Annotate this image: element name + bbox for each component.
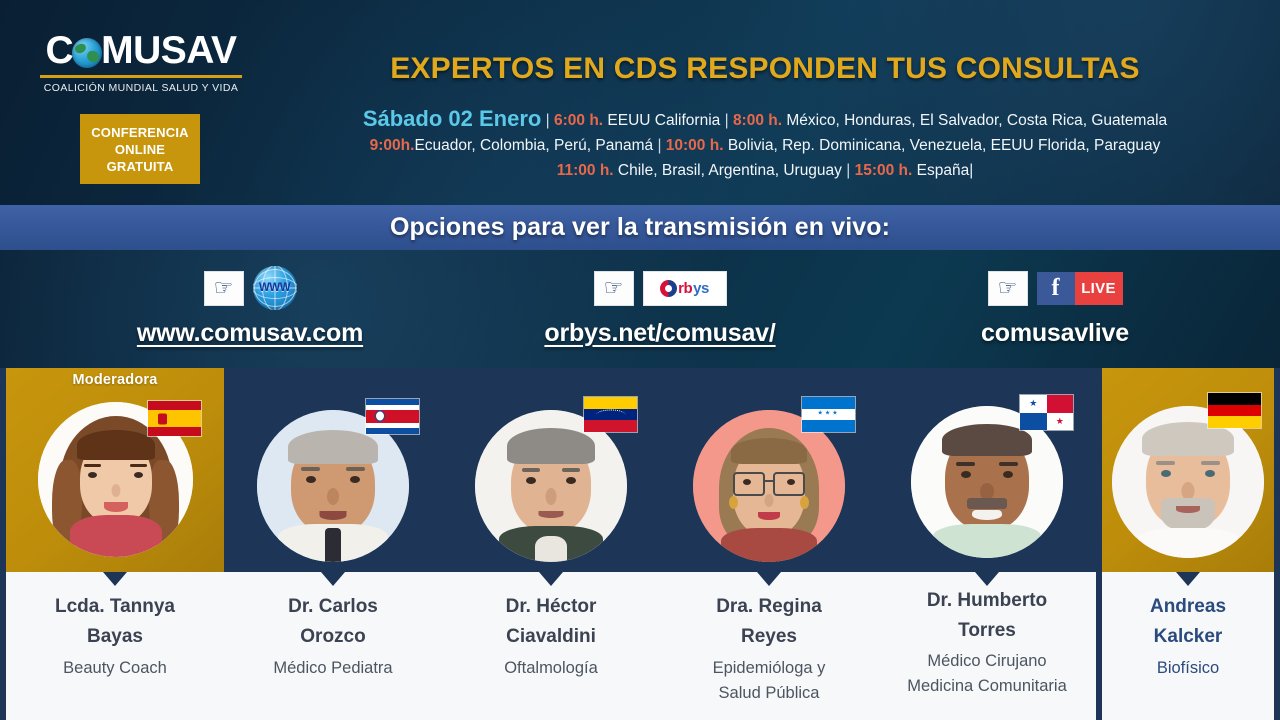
speaker-name-line-1: Lcda. Tannya — [6, 592, 224, 622]
nose — [765, 494, 774, 507]
pointer-arrow — [103, 572, 127, 586]
orbys-o-mark — [660, 280, 677, 297]
www-globe-icon: WWW — [253, 266, 297, 310]
glasses-bridge — [764, 480, 774, 482]
schedule-time: 8:00 h. — [733, 112, 782, 129]
speaker-name-line-2: Reyes — [660, 622, 878, 652]
orbys-logo-icon: rb ys — [643, 271, 727, 306]
header-right-column: EXPERTOS EN CDS RESPONDEN TUS CONSULTAS … — [250, 0, 1280, 205]
link-label-website[interactable]: www.comusav.com — [70, 319, 430, 348]
collar — [535, 536, 567, 562]
logo-wordmark: CMUSAV — [36, 30, 246, 72]
panama-flag: ★ ★ — [1019, 394, 1074, 431]
link-label-orbys[interactable]: orbys.net/comusav/ — [460, 319, 860, 348]
eye-right — [134, 472, 143, 478]
speaker-photo-area: ★★★ — [660, 368, 878, 572]
clothing — [70, 515, 162, 557]
pointer-arrow — [539, 572, 563, 586]
schedule-places: Chile, Brasil, Argentina, Uruguay — [618, 162, 842, 179]
speaker-name-line-2: Torres — [878, 616, 1096, 646]
eye-right — [566, 477, 576, 484]
brow-left — [956, 462, 975, 466]
brow-left — [522, 468, 540, 472]
conference-badge: CONFERENCIA ONLINE GRATUITA — [80, 114, 200, 184]
schedule-places: EEUU California — [607, 112, 720, 129]
speaker-name-line-2: Orozco — [224, 622, 442, 652]
speaker-name-area: Dr. Héctor Ciavaldini Oftalmología — [442, 572, 660, 720]
speaker-name-line-2: Kalcker — [1102, 622, 1274, 652]
pointing-hand-icon: ☞ — [594, 271, 634, 306]
schedule-sep: | — [725, 112, 729, 129]
speaker-card-regina-reyes: ★★★ Dra. Regina Reyes Epidemióloga y Sal… — [660, 368, 878, 720]
speaker-name-area: Dr. Humberto Torres Médico Cirujano Medi… — [878, 572, 1096, 720]
speaker-photo-area: ★ ★ — [878, 368, 1096, 572]
earring-right — [800, 496, 809, 509]
speaker-role-line-1: Beauty Coach — [6, 656, 224, 681]
speaker-role-line-1: Médico Pediatra — [224, 656, 442, 681]
speaker-name-area: Dra. Regina Reyes Epidemióloga y Salud P… — [660, 572, 878, 720]
earring-left — [729, 496, 738, 509]
speaker-role-line-2: Medicina Comunitaria — [878, 674, 1096, 699]
schedule-places: Bolivia, Rep. Dominicana, Venezuela, EEU… — [728, 137, 1161, 154]
speaker-role-line-2: Salud Pública — [660, 681, 878, 706]
logo-letters-musav: MUSAV — [101, 29, 236, 72]
schedule-places: España — [917, 162, 970, 179]
mouth-smile — [972, 510, 1002, 520]
speakers-row: Moderadora — [0, 368, 1280, 720]
speaker-card-andreas-kalcker: Andreas Kalcker Biofísico — [1102, 368, 1274, 720]
speaker-card-humberto-torres: ★ ★ Dr. Humberto Torres Médico Cirujano … — [878, 368, 1096, 720]
pointer-arrow — [1176, 572, 1200, 586]
eye-left — [961, 471, 971, 478]
live-options-banner: Opciones para ver la transmisión en vivo… — [0, 205, 1280, 250]
schedule-time: 9:00h. — [370, 137, 415, 154]
header-left-column: CMUSAV COALICIÓN MUNDIAL SALUD Y VIDA CO… — [0, 0, 250, 205]
moderator-label: Moderadora — [6, 372, 224, 388]
speaker-name-area: Dr. Carlos Orozco Médico Pediatra — [224, 572, 442, 720]
clothing — [933, 524, 1041, 558]
schedule-time: 10:00 h. — [666, 137, 724, 154]
pointing-hand-icon: ☞ — [988, 271, 1028, 306]
schedule-time: 6:00 h. — [554, 112, 603, 129]
nose — [327, 488, 339, 505]
link-icons-website: ☞ WWW — [70, 250, 430, 312]
hair — [288, 430, 378, 464]
facebook-f-icon: f — [1037, 272, 1075, 305]
brow-left — [84, 464, 101, 467]
germany-flag — [1207, 392, 1262, 429]
schedule-line-1: Sábado 02 Enero | 6:00 h. EEUU Californi… — [250, 106, 1280, 133]
speaker-name-line-1: Dr. Humberto — [878, 586, 1096, 616]
hair — [507, 428, 595, 464]
badge-line-2: ONLINE — [115, 141, 165, 158]
nose — [546, 488, 557, 505]
mouth — [758, 512, 780, 520]
orbys-rb-text: rb — [678, 280, 692, 297]
speaker-photo-area: Moderadora — [6, 368, 224, 572]
spain-flag — [147, 400, 202, 437]
schedule-day: Sábado 02 Enero — [363, 106, 542, 131]
speaker-name-line-1: Andreas — [1102, 592, 1274, 622]
banner-title: Opciones para ver la transmisión en vivo… — [390, 213, 890, 242]
pointing-hand-icon: ☞ — [204, 271, 244, 306]
brow-right — [130, 464, 147, 467]
speaker-photo-area — [1102, 368, 1274, 572]
eye-left — [88, 472, 97, 478]
eye-right — [1003, 471, 1013, 478]
live-badge: LIVE — [1075, 272, 1123, 305]
eye-left — [306, 476, 316, 483]
speaker-name-area: Andreas Kalcker Biofísico — [1102, 572, 1274, 720]
schedule-places: México, Honduras, El Salvador, Costa Ric… — [786, 112, 1167, 129]
schedule-trailing-caret: | — [969, 162, 973, 179]
speaker-role-line-1: Epidemióloga y — [660, 656, 878, 681]
schedule-sep: | — [657, 137, 661, 154]
streaming-links-row: ☞ WWW www.comusav.com ☞ rb ys — [0, 250, 1280, 368]
speaker-name-line-2: Ciavaldini — [442, 622, 660, 652]
mouth — [104, 502, 128, 512]
brow-right — [346, 467, 365, 471]
link-icons-orbys: ☞ rb ys — [460, 250, 860, 312]
schedule-time: 11:00 h. — [557, 162, 614, 179]
orbys-ys-text: ys — [693, 280, 709, 297]
eye-right — [350, 476, 360, 483]
globe-icon — [72, 38, 102, 68]
speaker-role-line-1: Médico Cirujano — [878, 649, 1096, 674]
costa-rica-flag — [365, 398, 420, 435]
tie — [325, 528, 341, 562]
schedule-sep: | — [546, 112, 550, 129]
moustache — [967, 498, 1007, 509]
comusav-logo: CMUSAV COALICIÓN MUNDIAL SALUD Y VIDA — [36, 30, 246, 94]
link-label-facebook[interactable]: comusavlive — [890, 319, 1220, 348]
eye-left — [1161, 470, 1171, 477]
page-title: EXPERTOS EN CDS RESPONDEN TUS CONSULTAS — [250, 52, 1280, 86]
pointer-arrow — [975, 572, 999, 586]
speaker-photo-area — [442, 368, 660, 572]
speaker-card-tannya-bayas: Moderadora — [6, 368, 224, 720]
logo-letter-c: C — [45, 29, 73, 72]
venezuela-flag — [583, 396, 638, 433]
mouth — [320, 511, 347, 520]
link-option-website[interactable]: ☞ WWW www.comusav.com — [70, 250, 430, 368]
speaker-card-carlos-orozco: Dr. Carlos Orozco Médico Pediatra — [224, 368, 442, 720]
brow-left — [301, 467, 320, 471]
clothing — [1138, 528, 1238, 558]
speaker-name-line-1: Dra. Regina — [660, 592, 878, 622]
speaker-role-line-1: Oftalmología — [442, 656, 660, 681]
speaker-role-line-1: Biofísico — [1102, 656, 1274, 681]
speaker-name-line-1: Dr. Carlos — [224, 592, 442, 622]
eye-left — [526, 477, 536, 484]
schedule-block: Sábado 02 Enero | 6:00 h. EEUU Californi… — [250, 106, 1280, 183]
nose — [111, 484, 120, 497]
speaker-name-line-2: Bayas — [6, 622, 224, 652]
link-option-orbys[interactable]: ☞ rb ys orbys.net/comusav/ — [460, 250, 860, 368]
pointer-arrow — [757, 572, 781, 586]
conference-poster: CMUSAV COALICIÓN MUNDIAL SALUD Y VIDA CO… — [0, 0, 1280, 720]
schedule-places: Ecuador, Colombia, Perú, Panamá — [414, 137, 653, 154]
schedule-sep: | — [846, 162, 850, 179]
schedule-time: 15:00 h. — [855, 162, 913, 179]
mouth — [539, 511, 564, 518]
mouth — [1176, 506, 1200, 513]
badge-line-1: CONFERENCIA — [91, 124, 189, 141]
header-section: CMUSAV COALICIÓN MUNDIAL SALUD Y VIDA CO… — [0, 0, 1280, 205]
eye-left — [743, 479, 751, 485]
brow-right — [999, 462, 1018, 466]
eye-right — [787, 479, 795, 485]
speaker-card-hector-ciavaldini: Dr. Héctor Ciavaldini Oftalmología — [442, 368, 660, 720]
link-icons-facebook: ☞ f LIVE — [890, 250, 1220, 312]
clothing — [721, 528, 817, 562]
honduras-flag: ★★★ — [801, 396, 856, 433]
badge-line-3: GRATUITA — [107, 158, 174, 175]
speaker-name-line-1: Dr. Héctor — [442, 592, 660, 622]
speaker-name-area: Lcda. Tannya Bayas Beauty Coach — [6, 572, 224, 720]
brow-left — [1156, 461, 1175, 465]
eye-right — [1205, 470, 1215, 477]
logo-divider — [40, 75, 242, 78]
brow-right — [1201, 461, 1220, 465]
beard — [1161, 498, 1215, 532]
schedule-line-3: 11:00 h. Chile, Brasil, Argentina, Urugu… — [250, 158, 1280, 183]
www-label: WWW — [259, 282, 290, 294]
brow-right — [562, 468, 580, 472]
speaker-photo-area — [224, 368, 442, 572]
logo-tagline: COALICIÓN MUNDIAL SALUD Y VIDA — [36, 82, 246, 94]
pointer-arrow — [321, 572, 345, 586]
fringe — [731, 438, 807, 464]
fringe — [77, 430, 155, 460]
facebook-live-icon: f LIVE — [1037, 272, 1123, 305]
schedule-line-2: 9:00h.Ecuador, Colombia, Perú, Panamá | … — [250, 133, 1280, 158]
link-option-facebook[interactable]: ☞ f LIVE comusavlive — [890, 250, 1220, 368]
